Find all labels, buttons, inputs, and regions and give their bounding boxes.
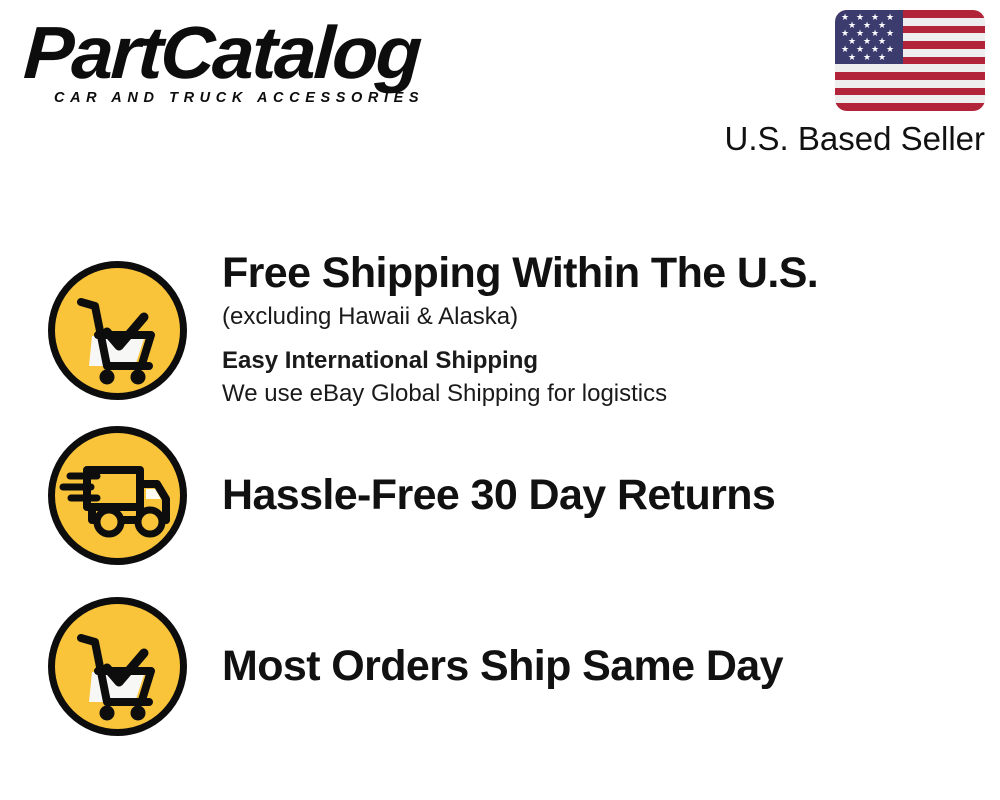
seller-badge: ★ ★ ★ ★ ★ ★ ★ ★ ★ ★ ★ ★ ★ ★ ★ ★ ★ ★ ★ ★ … [695, 10, 985, 158]
feature-title: Hassle-Free 30 Day Returns [222, 473, 1000, 519]
feature-row: Free Shipping Within The U.S. (excluding… [0, 251, 1000, 411]
feature-text: Most Orders Ship Same Day [222, 644, 1000, 690]
feature-subtitle: We use eBay Global Shipping for logistic… [222, 378, 1000, 410]
shopping-cart-check-icon [45, 594, 190, 739]
page-header: PartCatalog CAR AND TRUCK ACCESSORIES ★ … [0, 0, 1000, 175]
feature-text: Free Shipping Within The U.S. (excluding… [222, 251, 1000, 411]
seller-badge-label: U.S. Based Seller [695, 120, 985, 158]
feature-title: Most Orders Ship Same Day [222, 644, 1000, 690]
shopping-cart-check-icon [45, 258, 190, 403]
feature-row: Most Orders Ship Same Day [0, 594, 1000, 739]
feature-subtitle: Easy International Shipping [222, 345, 1000, 377]
feature-subtitle: (excluding Hawaii & Alaska) [222, 301, 1000, 333]
us-flag-icon: ★ ★ ★ ★ ★ ★ ★ ★ ★ ★ ★ ★ ★ ★ ★ ★ ★ ★ ★ ★ … [835, 10, 985, 111]
brand-logo[interactable]: PartCatalog CAR AND TRUCK ACCESSORIES [24, 18, 494, 106]
feature-row: Hassle-Free 30 Day Returns [0, 423, 1000, 568]
delivery-truck-icon [45, 423, 190, 568]
feature-text: Hassle-Free 30 Day Returns [222, 473, 1000, 519]
feature-title: Free Shipping Within The U.S. [222, 251, 1000, 297]
brand-wordmark: PartCatalog [22, 18, 505, 88]
